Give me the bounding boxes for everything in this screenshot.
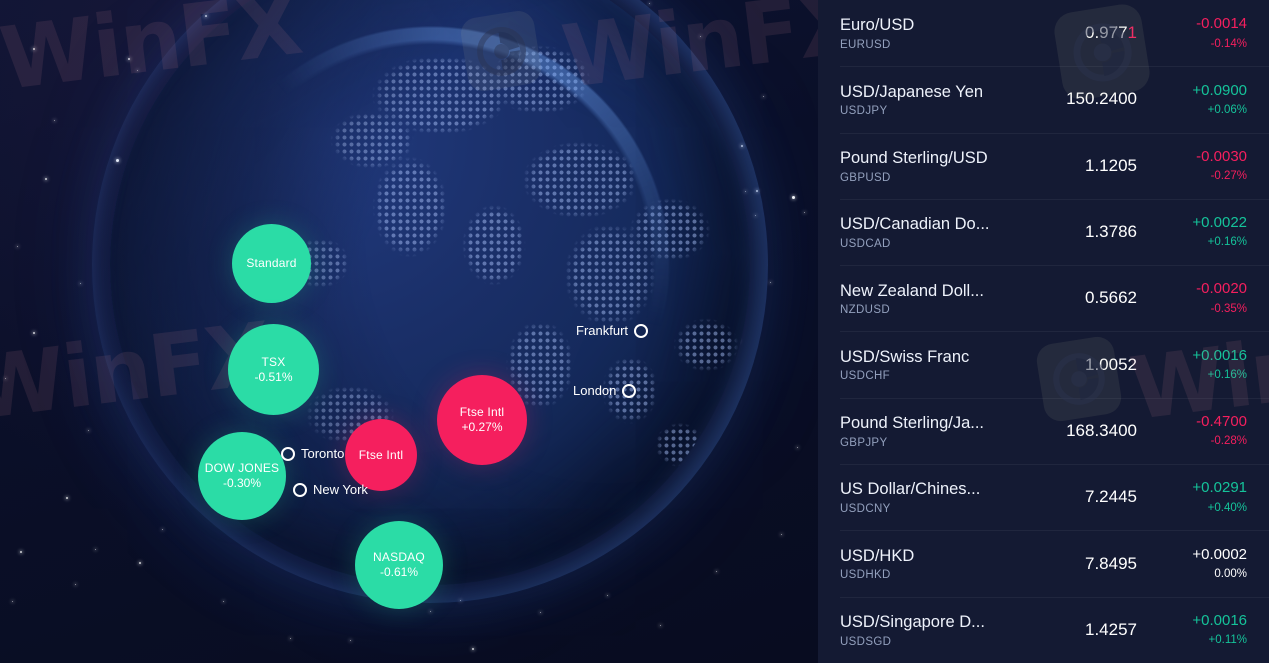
star	[745, 191, 746, 192]
quote-change: -0.0014-0.14%	[1143, 14, 1247, 52]
quote-change-absolute: +0.0002	[1143, 545, 1247, 565]
star	[95, 549, 96, 550]
quote-name: USD/HKD	[840, 546, 1025, 567]
quote-change: +0.0900+0.06%	[1143, 81, 1247, 119]
quote-change-percent: -0.35%	[1143, 302, 1247, 318]
quote-name: USD/Canadian Do...	[840, 214, 1025, 235]
quote-change-absolute: -0.0014	[1143, 14, 1247, 34]
quote-price: 1.3786	[1025, 222, 1143, 242]
quote-identity: US Dollar/Chines...USDCNY	[840, 479, 1025, 515]
quotes-list: Euro/USDEURUSD0.9771-0.0014-0.14%USD/Jap…	[818, 0, 1269, 663]
quote-symbol: EURUSD	[840, 39, 1025, 51]
quote-price: 0.9771	[1025, 23, 1143, 43]
quote-symbol: GBPJPY	[840, 437, 1025, 449]
star	[700, 36, 701, 37]
quote-change-absolute: +0.0016	[1143, 346, 1247, 366]
quote-symbol: USDJPY	[840, 105, 1025, 117]
quote-price-main: 0.5662	[1085, 288, 1137, 307]
star	[763, 96, 764, 97]
quote-identity: USD/Canadian Do...USDCAD	[840, 214, 1025, 250]
quote-change-percent: +0.40%	[1143, 501, 1247, 517]
quote-change-absolute: +0.0291	[1143, 478, 1247, 498]
star	[20, 551, 22, 553]
market-bubble-label: Ftse Intl	[359, 448, 403, 463]
quote-symbol: USDSGD	[840, 636, 1025, 648]
dashboard-root: WinFXWinFXWinFX StandardTSX-0.51%DOW JON…	[0, 0, 1269, 663]
city-marker-label: Toronto	[301, 446, 344, 461]
quote-price: 7.8495	[1025, 554, 1143, 574]
quote-price-main: 1.3786	[1085, 222, 1137, 241]
market-bubble[interactable]: Standard	[232, 224, 311, 303]
city-marker-label: Frankfurt	[576, 323, 628, 338]
quote-change-absolute: +0.0016	[1143, 611, 1247, 631]
quote-symbol: USDCAD	[840, 238, 1025, 250]
quote-identity: Pound Sterling/Ja...GBPJPY	[840, 413, 1025, 449]
star	[716, 571, 717, 572]
star	[472, 648, 474, 650]
market-bubble[interactable]: Ftse Intl+0.27%	[437, 375, 527, 465]
quote-row[interactable]: Euro/USDEURUSD0.9771-0.0014-0.14%	[818, 0, 1269, 66]
quote-change: +0.0022+0.16%	[1143, 213, 1247, 251]
market-bubble-label: DOW JONES	[205, 461, 279, 476]
star	[128, 58, 130, 60]
quote-identity: USD/HKDUSDHKD	[840, 546, 1025, 582]
quote-change-percent: +0.06%	[1143, 103, 1247, 119]
quote-change-percent: 0.00%	[1143, 567, 1247, 583]
star	[350, 640, 351, 641]
quote-price-tick-digit: 1	[1128, 23, 1137, 42]
quote-change: -0.4700-0.28%	[1143, 412, 1247, 450]
star	[756, 190, 758, 192]
star	[540, 612, 541, 613]
star	[430, 611, 431, 612]
forex-quotes-panel[interactable]: Euro/USDEURUSD0.9771-0.0014-0.14%USD/Jap…	[818, 0, 1269, 663]
quote-name: USD/Singapore D...	[840, 612, 1025, 633]
quote-identity: USD/Swiss FrancUSDCHF	[840, 347, 1025, 383]
quote-price: 1.0052	[1025, 355, 1143, 375]
star	[66, 497, 68, 499]
quote-change: -0.0020-0.35%	[1143, 279, 1247, 317]
star	[33, 48, 35, 50]
quote-row[interactable]: New Zealand Doll...NZDUSD0.5662-0.0020-0…	[818, 265, 1269, 331]
star	[12, 601, 13, 602]
quote-price-main: 1.0052	[1085, 355, 1137, 374]
quote-identity: New Zealand Doll...NZDUSD	[840, 281, 1025, 317]
quote-change: +0.0016+0.11%	[1143, 611, 1247, 649]
quote-change-percent: -0.14%	[1143, 37, 1247, 53]
star	[607, 595, 608, 596]
star	[223, 601, 224, 602]
quote-change: +0.00020.00%	[1143, 545, 1247, 583]
quote-row[interactable]: US Dollar/Chines...USDCNY7.2445+0.0291+0…	[818, 464, 1269, 530]
star	[139, 562, 141, 564]
quote-row[interactable]: USD/Japanese YenUSDJPY150.2400+0.0900+0.…	[818, 66, 1269, 132]
market-bubble[interactable]: Ftse Intl	[345, 419, 417, 491]
quote-price-main: 0.977	[1085, 23, 1128, 42]
market-bubble-change: -0.61%	[380, 565, 418, 580]
star	[75, 584, 76, 585]
star	[33, 332, 35, 334]
star	[88, 430, 89, 431]
star	[804, 212, 805, 213]
quote-change: -0.0030-0.27%	[1143, 147, 1247, 185]
quote-name: USD/Japanese Yen	[840, 82, 1025, 103]
star	[116, 159, 119, 162]
city-marker-dot-icon	[281, 447, 295, 461]
star	[162, 529, 163, 530]
quote-price-main: 1.1205	[1085, 156, 1137, 175]
quote-name: New Zealand Doll...	[840, 281, 1025, 302]
quote-change-absolute: -0.0030	[1143, 147, 1247, 167]
quote-symbol: USDHKD	[840, 569, 1025, 581]
quote-price-main: 7.2445	[1085, 487, 1137, 506]
quote-price: 1.1205	[1025, 156, 1143, 176]
quote-change-percent: +0.16%	[1143, 235, 1247, 251]
market-bubble[interactable]: NASDAQ-0.61%	[355, 521, 443, 609]
star	[781, 534, 782, 535]
star	[137, 70, 138, 71]
star	[17, 246, 18, 247]
star	[660, 625, 661, 626]
star	[5, 378, 6, 379]
quote-name: Pound Sterling/Ja...	[840, 413, 1025, 434]
quote-identity: USD/Japanese YenUSDJPY	[840, 82, 1025, 118]
city-marker-label: New York	[313, 482, 368, 497]
market-bubble-label: Standard	[246, 256, 296, 271]
star	[755, 215, 756, 216]
quote-name: Euro/USD	[840, 15, 1025, 36]
city-marker-dot-icon	[634, 324, 648, 338]
quote-name: USD/Swiss Franc	[840, 347, 1025, 368]
star	[741, 145, 743, 147]
star	[792, 196, 795, 199]
market-bubble[interactable]: TSX-0.51%	[228, 324, 319, 415]
star	[797, 447, 798, 448]
star	[45, 178, 47, 180]
city-marker-label: London	[573, 383, 616, 398]
quote-row[interactable]: USD/Singapore D...USDSGD1.4257+0.0016+0.…	[818, 597, 1269, 663]
quote-row[interactable]: Pound Sterling/USDGBPUSD1.1205-0.0030-0.…	[818, 133, 1269, 199]
quote-symbol: USDCHF	[840, 370, 1025, 382]
quote-symbol: NZDUSD	[840, 304, 1025, 316]
star	[290, 638, 291, 639]
quote-change-percent: -0.28%	[1143, 434, 1247, 450]
quote-change-percent: +0.16%	[1143, 368, 1247, 384]
quote-price-main: 150.2400	[1066, 89, 1137, 108]
quote-name: Pound Sterling/USD	[840, 148, 1025, 169]
quote-price-main: 1.4257	[1085, 620, 1137, 639]
quote-identity: Euro/USDEURUSD	[840, 15, 1025, 51]
market-bubble[interactable]: DOW JONES-0.30%	[198, 432, 286, 520]
market-bubble-change: -0.30%	[223, 476, 261, 491]
quote-price: 168.3400	[1025, 421, 1143, 441]
market-bubble-label: Ftse Intl	[460, 405, 504, 420]
star	[80, 283, 81, 284]
quote-price: 150.2400	[1025, 89, 1143, 109]
city-marker[interactable]: New York	[293, 482, 368, 497]
quote-row[interactable]: USD/HKDUSDHKD7.8495+0.00020.00%	[818, 530, 1269, 596]
city-marker[interactable]: London	[573, 383, 636, 398]
star	[205, 15, 207, 17]
quote-change-absolute: +0.0900	[1143, 81, 1247, 101]
city-marker-dot-icon	[622, 384, 636, 398]
market-bubble-label: NASDAQ	[373, 550, 425, 565]
star	[649, 3, 650, 4]
quote-row[interactable]: USD/Swiss FrancUSDCHF1.0052+0.0016+0.16%	[818, 331, 1269, 397]
quote-change-percent: -0.27%	[1143, 169, 1247, 185]
quote-identity: USD/Singapore D...USDSGD	[840, 612, 1025, 648]
quote-change-absolute: -0.4700	[1143, 412, 1247, 432]
quote-price: 1.4257	[1025, 620, 1143, 640]
star	[770, 282, 771, 283]
city-marker[interactable]: Toronto	[281, 446, 344, 461]
quote-change-absolute: -0.0020	[1143, 279, 1247, 299]
market-bubble-label: TSX	[262, 355, 286, 370]
city-marker[interactable]: Frankfurt	[576, 323, 648, 338]
quote-row[interactable]: USD/Canadian Do...USDCAD1.3786+0.0022+0.…	[818, 199, 1269, 265]
quote-price: 7.2445	[1025, 487, 1143, 507]
star	[460, 600, 461, 601]
quote-price: 0.5662	[1025, 288, 1143, 308]
quote-identity: Pound Sterling/USDGBPUSD	[840, 148, 1025, 184]
globe-panel: WinFXWinFXWinFX StandardTSX-0.51%DOW JON…	[0, 0, 818, 663]
city-marker-dot-icon	[293, 483, 307, 497]
quote-change: +0.0016+0.16%	[1143, 346, 1247, 384]
quote-change-percent: +0.11%	[1143, 633, 1247, 649]
market-bubble-change: -0.51%	[254, 370, 292, 385]
market-bubble-change: +0.27%	[461, 420, 502, 435]
quote-price-main: 168.3400	[1066, 421, 1137, 440]
quote-price-main: 7.8495	[1085, 554, 1137, 573]
quote-name: US Dollar/Chines...	[840, 479, 1025, 500]
star	[54, 120, 55, 121]
quote-symbol: GBPUSD	[840, 172, 1025, 184]
quote-change: +0.0291+0.40%	[1143, 478, 1247, 516]
quote-row[interactable]: Pound Sterling/Ja...GBPJPY168.3400-0.470…	[818, 398, 1269, 464]
quote-symbol: USDCNY	[840, 503, 1025, 515]
quote-change-absolute: +0.0022	[1143, 213, 1247, 233]
